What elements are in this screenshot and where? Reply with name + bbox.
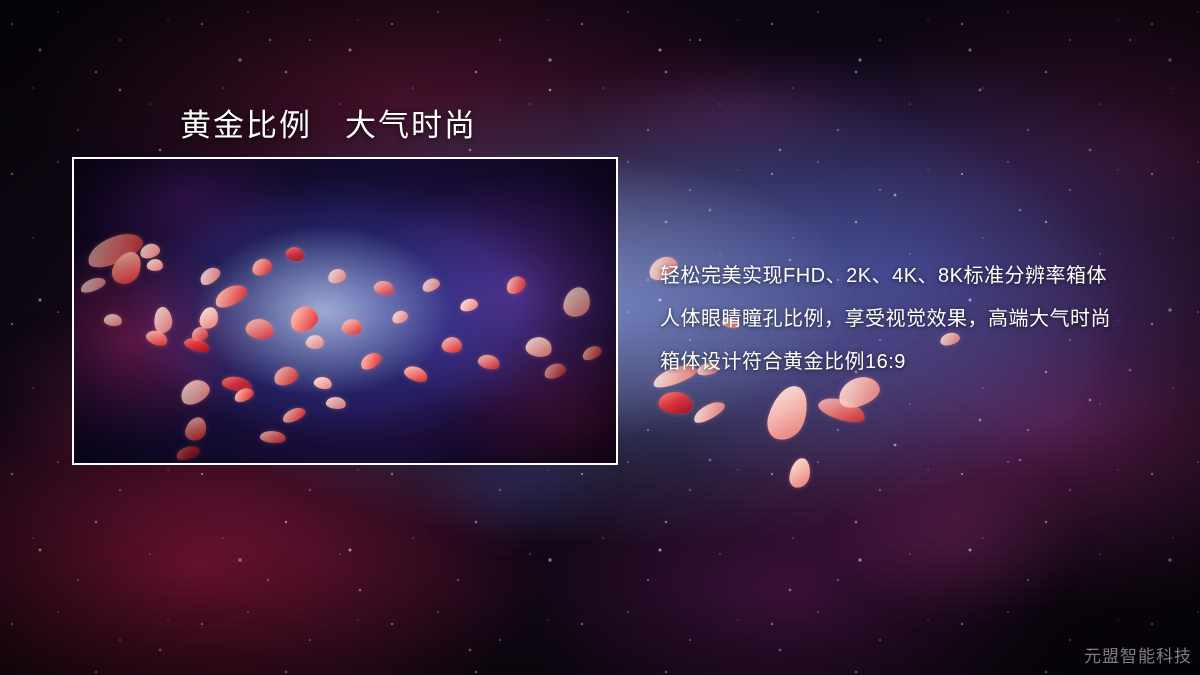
watermark-text: 元盟智能科技: [1084, 642, 1192, 667]
picture-frame: [72, 157, 618, 465]
slide-title: 黄金比例 大气时尚: [180, 100, 477, 145]
flower-petal: [657, 388, 695, 418]
flower-petal: [763, 381, 813, 445]
body-line-2: 人体眼睛瞳孔比例，享受视觉效果，高端大气时尚: [660, 298, 1160, 341]
body-line-3: 箱体设计符合黄金比例16:9: [660, 341, 1160, 384]
body-line-1: 轻松完美实现FHD、2K、4K、8K标准分辨率箱体: [660, 255, 1160, 298]
flower-petal: [691, 398, 728, 425]
body-text-block: 轻松完美实现FHD、2K、4K、8K标准分辨率箱体 人体眼睛瞳孔比例，享受视觉效…: [660, 255, 1160, 384]
presentation-slide: 黄金比例 大气时尚 轻松完美实现FHD、2K、4K、8K标准分辨率箱体 人体眼睛…: [0, 0, 1200, 675]
flower-petal: [788, 457, 812, 489]
frame-vignette: [74, 159, 616, 463]
flower-petal: [816, 392, 868, 427]
